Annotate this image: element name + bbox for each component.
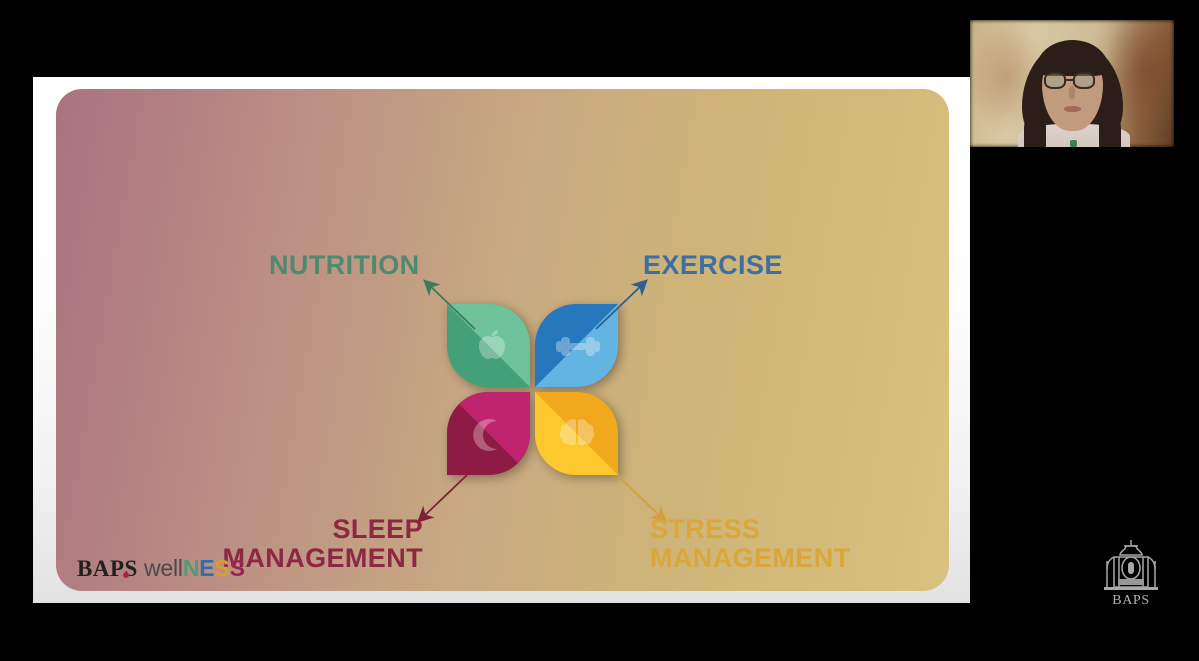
logo-letter-n: N <box>183 555 199 581</box>
arrow-to-exercise <box>590 273 654 335</box>
label-stress-management: STRESS MANAGEMENT <box>650 515 851 572</box>
presenter-glasses-left-lens <box>1044 72 1066 89</box>
baps-wellness-logo: BAPS wellNESS <box>77 555 245 582</box>
presentation-screen: NUTRITION EXERCISE SLEEP MANAGEMENT STRE… <box>0 0 1199 661</box>
presenter-nose <box>1069 86 1075 99</box>
presenter-mouth <box>1064 106 1081 112</box>
petal-stress[interactable] <box>535 392 618 475</box>
slide-canvas: NUTRITION EXERCISE SLEEP MANAGEMENT STRE… <box>33 77 970 603</box>
logo-well-text: well <box>144 555 183 581</box>
presenter-hair-right <box>1099 112 1121 147</box>
logo-accent-dot <box>123 572 129 578</box>
logo-letter-e: E <box>199 555 214 581</box>
baps-watermark: BAPS <box>1090 537 1172 613</box>
logo-letter-s-first: S <box>214 555 229 581</box>
baps-shrine-icon <box>1090 537 1172 595</box>
baps-watermark-label: BAPS <box>1090 593 1172 609</box>
presenter-glasses-bridge <box>1066 79 1075 81</box>
logo-letter-s-second: S <box>230 555 245 581</box>
arrow-to-nutrition <box>417 273 481 335</box>
presenter-lapel-pin <box>1070 140 1077 147</box>
label-nutrition: NUTRITION <box>269 251 420 280</box>
label-exercise: EXERCISE <box>643 251 783 280</box>
presenter-webcam-tile[interactable] <box>970 20 1174 147</box>
logo-baps-text: BAPS <box>77 556 138 581</box>
presenter-hair-left <box>1024 112 1046 147</box>
petal-sleep[interactable] <box>447 392 530 475</box>
presenter-glasses-right-lens <box>1073 72 1095 89</box>
